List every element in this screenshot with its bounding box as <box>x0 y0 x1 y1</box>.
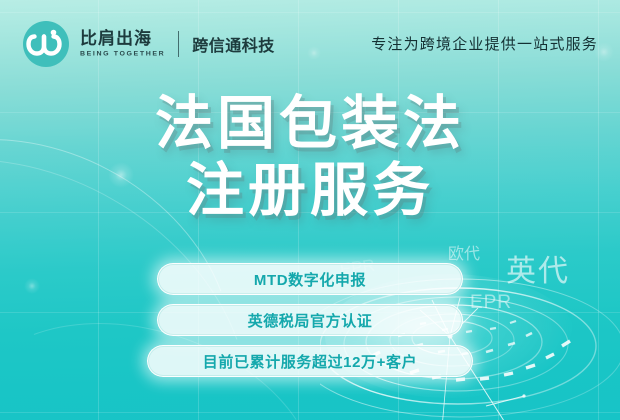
feature-pill-certification[interactable]: 英德税局官方认证 <box>157 304 463 336</box>
brand-divider <box>178 31 179 57</box>
headline-line-2: 注册服务 <box>0 159 620 224</box>
company-name-block: 比肩出海 BEING TOGETHER <box>80 30 165 58</box>
header-tagline: 专注为跨境企业提供一站式服务 <box>371 33 598 54</box>
company-logo-icon <box>22 20 70 68</box>
brand-lockup: 比肩出海 BEING TOGETHER 跨信通科技 <box>22 20 275 68</box>
feature-pill-customer-count[interactable]: 目前已累计服务超过12万+客户 <box>147 345 473 377</box>
watermark-eu-rep: 欧代 <box>448 240 480 264</box>
feature-pill-label: MTD数字化申报 <box>254 269 366 290</box>
headline-block: 法国包装法 注册服务 <box>0 92 620 224</box>
feature-pill-mtd[interactable]: MTD数字化申报 <box>157 263 463 295</box>
banner-header: 比肩出海 BEING TOGETHER 跨信通科技 专注为跨境企业提供一站式服务 <box>0 0 620 86</box>
feature-pill-list: MTD数字化申报 英德税局官方认证 目前已累计服务超过12万+客户 <box>0 263 620 377</box>
headline-line-1: 法国包装法 <box>0 92 620 157</box>
company-name-cn: 比肩出海 <box>80 30 165 48</box>
sub-brand-name: 跨信通科技 <box>192 32 275 56</box>
feature-pill-label: 目前已累计服务超过12万+客户 <box>203 351 417 372</box>
promo-banner: 比肩出海 BEING TOGETHER 跨信通科技 专注为跨境企业提供一站式服务… <box>0 0 620 420</box>
glow-dot <box>108 162 134 188</box>
company-name-en: BEING TOGETHER <box>80 51 165 57</box>
brand-names: 比肩出海 BEING TOGETHER 跨信通科技 <box>80 30 275 58</box>
feature-pill-label: 英德税局官方认证 <box>248 310 373 331</box>
